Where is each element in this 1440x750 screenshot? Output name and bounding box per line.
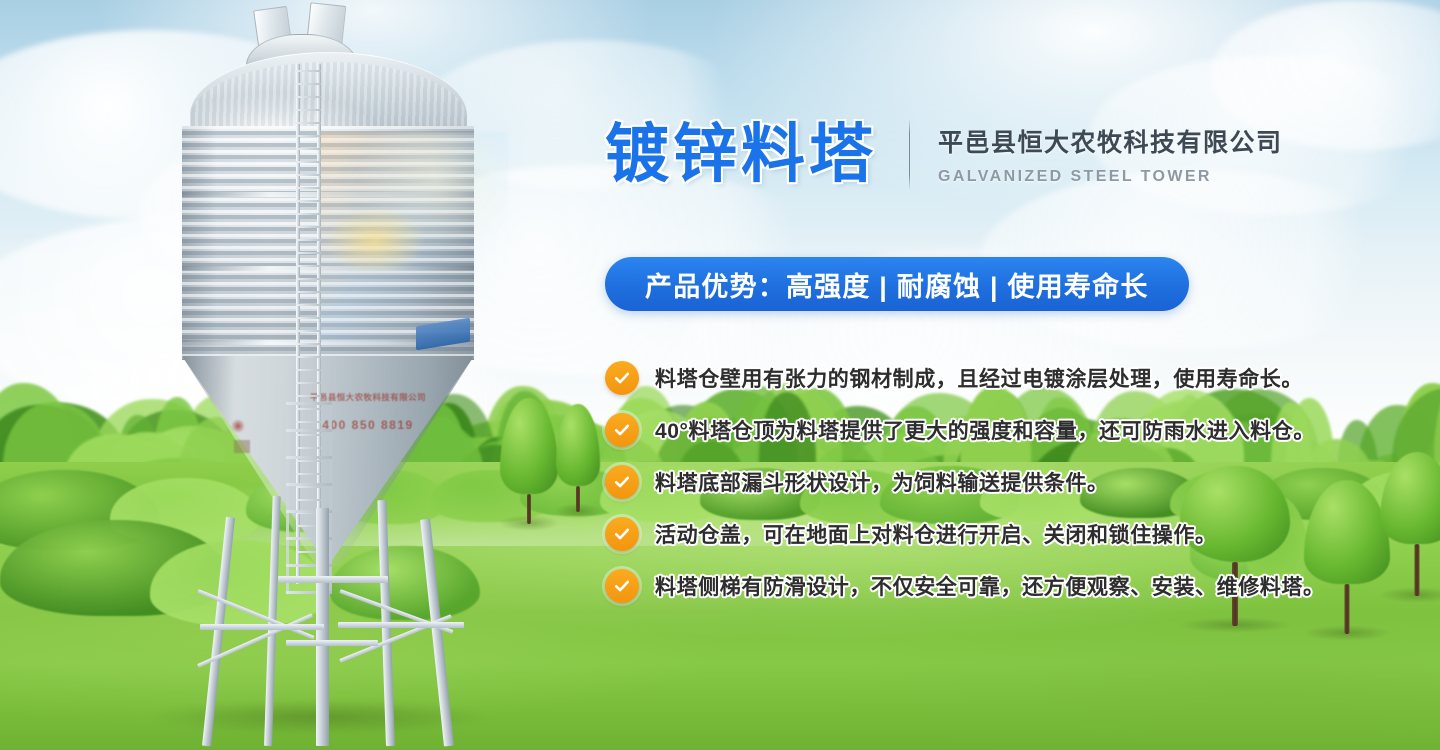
ladder-rung [296, 317, 321, 319]
feature-item: 料塔仓壁用有张力的钢材制成，且经过电镀涂层处理，使用寿命长。 [605, 352, 1425, 404]
tree-trunk [527, 494, 531, 524]
feature-item: 40°料塔仓顶为料塔提供了更大的强度和容量，还可防雨水进入料仓。 [605, 404, 1425, 456]
ladder-rung [296, 161, 321, 163]
ladder-rung [296, 226, 321, 228]
ladder-rung [296, 395, 321, 397]
company-name: 平邑县恒大农牧科技有限公司 [938, 123, 1283, 159]
silo-horizontal-brace [286, 640, 378, 646]
silo-horizontal-brace [278, 576, 388, 583]
ladder-rung [296, 369, 321, 371]
feature-text: 料塔侧梯有防滑设计，不仅安全可靠，还方便观察、安装、维修料塔。 [655, 571, 1325, 601]
ladder-rung [296, 356, 321, 358]
ladder-rung [296, 330, 321, 332]
galvanized-feed-silo: 平邑县恒大农牧科技有限公司 400 850 8819 [168, 4, 488, 746]
feature-text: 料塔底部漏斗形状设计，为饲料输送提供条件。 [655, 467, 1109, 497]
ladder-rung [296, 304, 321, 306]
ladder-rung [296, 382, 321, 384]
check-circle-icon [605, 361, 639, 395]
ladder-rung [296, 265, 321, 267]
banner-content: 镀锌料塔 平邑县恒大农牧科技有限公司 GALVANIZED STEEL TOWE… [600, 0, 1440, 750]
ladder-rung [296, 291, 321, 293]
check-circle-icon [605, 413, 639, 447]
ladder-rung [296, 109, 321, 111]
company-name-english: GALVANIZED STEEL TOWER [938, 168, 1283, 186]
ladder-rung [296, 135, 321, 137]
cage-hoop [286, 402, 332, 405]
advantage-label: 产品优势：高强度 | 耐腐蚀 | 使用寿命长 [645, 265, 1149, 304]
silo-seam-ring [182, 192, 474, 197]
feature-text: 40°料塔仓顶为料塔提供了更大的强度和容量，还可防雨水进入料仓。 [655, 415, 1315, 445]
feature-item: 活动仓盖，可在地面上对料仓进行开启、关闭和锁住操作。 [605, 508, 1425, 560]
ladder-rung [296, 239, 321, 241]
tree-canopy [556, 404, 600, 486]
headline-row: 镀锌料塔 平邑县恒大农牧科技有限公司 GALVANIZED STEEL TOWE… [605, 118, 1283, 190]
ladder-rung [296, 174, 321, 176]
page-title: 镀锌料塔 [605, 122, 877, 186]
company-block: 平邑县恒大农牧科技有限公司 GALVANIZED STEEL TOWER [938, 123, 1283, 186]
ladder-rung [296, 122, 321, 124]
feature-list: 料塔仓壁用有张力的钢材制成，且经过电镀涂层处理，使用寿命长。40°料塔仓顶为料塔… [605, 352, 1425, 612]
ladder-rung [296, 343, 321, 345]
ladder-rung [296, 148, 321, 150]
check-circle-icon [605, 517, 639, 551]
ladder-rung [296, 278, 321, 280]
cage-hoop [286, 429, 332, 432]
promo-banner: 平邑县恒大农牧科技有限公司 400 850 8819 镀锌料塔 [0, 0, 1440, 750]
ladder-rung [296, 213, 321, 215]
silo-seam-ring [182, 266, 474, 271]
ladder-rung [296, 96, 321, 98]
advantage-badge: 产品优势：高强度 | 耐腐蚀 | 使用寿命长 [605, 257, 1189, 311]
tree-trunk [576, 486, 580, 512]
silo-horizontal-brace [338, 622, 464, 628]
check-circle-icon [605, 569, 639, 603]
title-divider [909, 118, 910, 190]
check-circle-icon [605, 465, 639, 499]
ladder-rung [296, 200, 321, 202]
ladder-rung [296, 70, 321, 72]
ladder-rung [296, 252, 321, 254]
cage-hoop [286, 483, 332, 486]
feature-text: 活动仓盖，可在地面上对料仓进行开启、关闭和锁住操作。 [655, 519, 1217, 549]
silo-horizontal-brace [200, 624, 324, 630]
ladder-rung [296, 83, 321, 85]
feature-item: 料塔底部漏斗形状设计，为饲料输送提供条件。 [605, 456, 1425, 508]
hopper-red-mark [231, 419, 245, 433]
feature-text: 料塔仓壁用有张力的钢材制成，且经过电镀涂层处理，使用寿命长。 [655, 363, 1303, 393]
feature-item: 料塔侧梯有防滑设计，不仅安全可靠，还方便观察、安装、维修料塔。 [605, 560, 1425, 612]
foreground-tree [556, 404, 600, 512]
tree-canopy [500, 398, 558, 494]
ladder-rung [296, 187, 321, 189]
cage-hoop [286, 456, 332, 459]
hopper-patch [234, 440, 250, 453]
foreground-tree [500, 398, 558, 524]
